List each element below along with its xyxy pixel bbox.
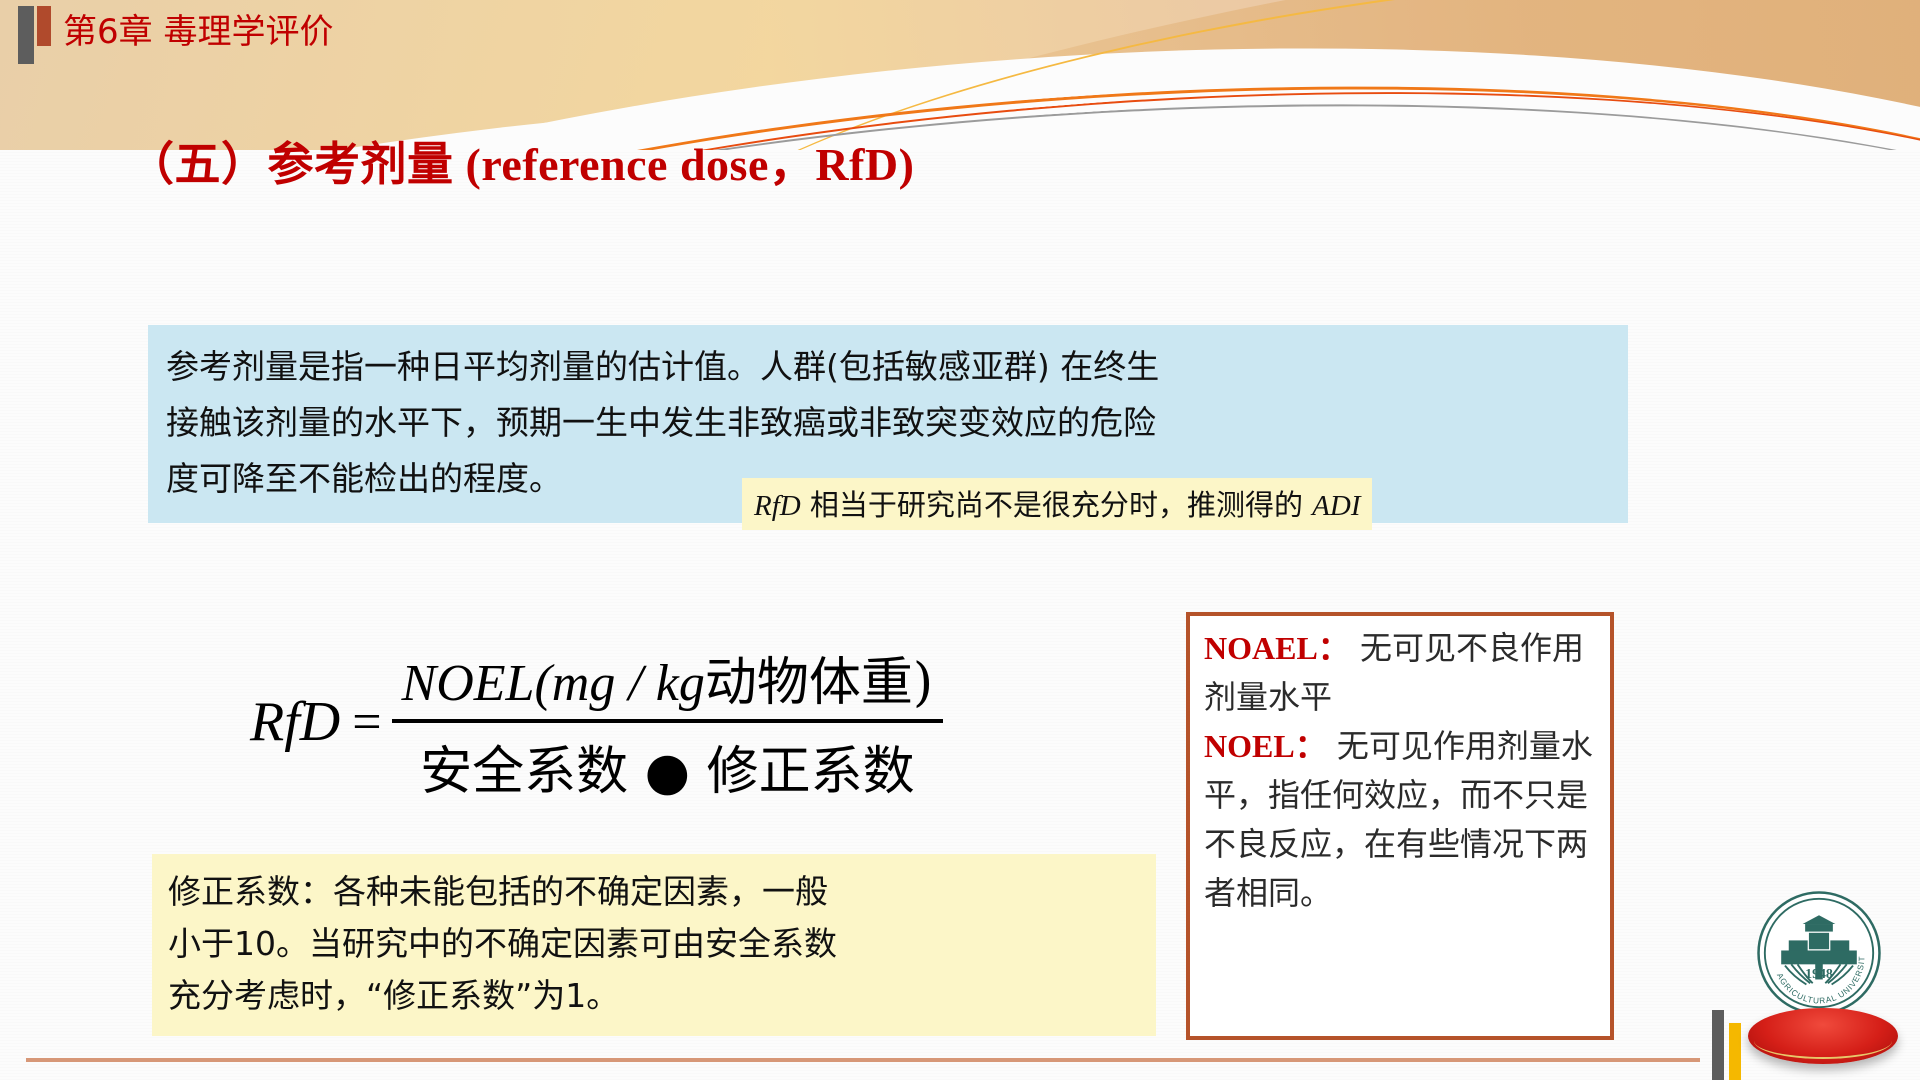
correction-factor-note: 修正系数：各种未能包括的不确定因素，一般 小于10。当研究中的不确定因素可由安全…	[152, 854, 1156, 1036]
inset-callout-text: 相当于研究尚不是很充分时，推测得的	[801, 488, 1312, 522]
logo-plinth-gold-ring	[1754, 1023, 1892, 1059]
note-line-2: 小于10。当研究中的不确定因素可由安全系数	[168, 918, 1140, 970]
noael-key: NOAEL：	[1204, 630, 1350, 666]
page-title: （五）参考剂量 (reference dose，RfD)	[128, 128, 914, 194]
definition-line-2: 接触该剂量的水平下，预期一生中发生非致癌或非致突变效应的危险	[166, 395, 1610, 451]
inset-callout: RfD 相当于研究尚不是很充分时，推测得的 ADI	[742, 478, 1372, 530]
note-line-1: 修正系数：各种未能包括的不确定因素，一般	[168, 866, 1140, 918]
university-seal-icon: 1948 AGRICULTURAL UNIVERSITY	[1756, 890, 1882, 1016]
terminology-box: NOAEL： 无可见不良作用剂量水平 NOEL： 无可见作用剂量水平，指任何效应…	[1186, 612, 1614, 1040]
page-title-en: (reference dose，RfD)	[454, 139, 915, 190]
noael-entry: NOAEL： 无可见不良作用剂量水平	[1204, 624, 1600, 722]
note-line-3: 充分考虑时，“修正系数”为1。	[168, 970, 1140, 1022]
noel-key: NOEL：	[1204, 728, 1327, 764]
inset-callout-rfd: RfD	[754, 490, 801, 522]
formula-numerator-en: NOEL(mg / kg	[402, 655, 705, 712]
formula-equals: =	[352, 693, 381, 752]
chapter-gray-bar-icon	[18, 6, 34, 64]
formula-numerator: NOEL(mg / kg动物体重)	[392, 640, 944, 719]
formula-denominator: 安全系数 ● 修正系数	[410, 723, 924, 804]
noel-entry: NOEL： 无可见作用剂量水平，指任何效应，而不只是不良反应，在有些情况下两者相…	[1204, 722, 1600, 918]
slide-canvas: 第6章 毒理学评价 （五）参考剂量 (reference dose，RfD) 参…	[0, 0, 1920, 1080]
formula-fraction: NOEL(mg / kg动物体重) 安全系数 ● 修正系数	[392, 640, 944, 804]
formula-lhs: RfD	[250, 690, 340, 754]
footer-gold-bar-icon	[1729, 1023, 1741, 1080]
logo-year: 1948	[1805, 966, 1833, 981]
university-logo: 1948 AGRICULTURAL UNIVERSITY	[1748, 890, 1898, 1080]
inset-callout-adi: ADI	[1312, 490, 1360, 522]
page-title-cn: （五）参考剂量	[128, 137, 454, 191]
chapter-red-bar-icon	[37, 6, 51, 46]
footer-gray-bar-icon	[1712, 1010, 1724, 1080]
rfd-formula: RfD = NOEL(mg / kg动物体重) 安全系数 ● 修正系数	[250, 640, 943, 804]
formula-numerator-cn: 动物体重)	[705, 653, 933, 713]
definition-line-1: 参考剂量是指一种日平均剂量的估计值。人群(包括敏感亚群) 在终生	[166, 339, 1610, 395]
footer-rule	[26, 1058, 1700, 1062]
chapter-label: 第6章 毒理学评价	[63, 4, 333, 53]
chapter-tag: 第6章 毒理学评价	[18, 6, 333, 64]
